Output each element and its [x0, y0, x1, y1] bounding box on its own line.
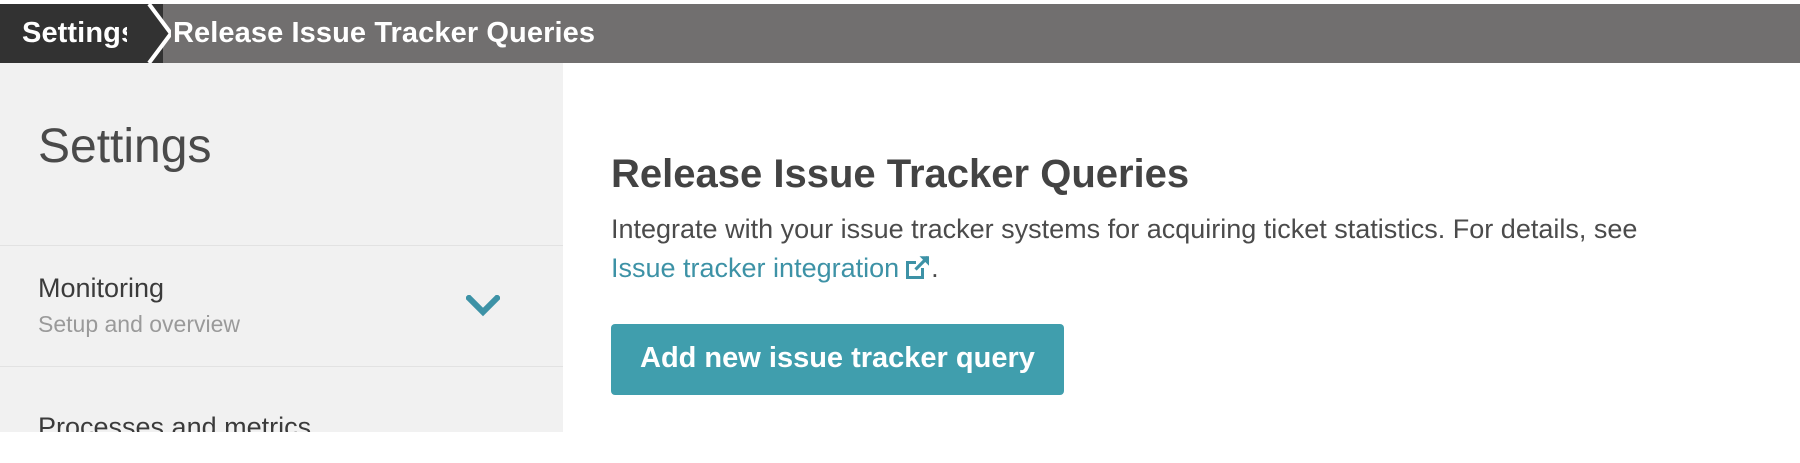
add-new-issue-tracker-query-button[interactable]: Add new issue tracker query — [611, 324, 1064, 395]
sidebar-item-sublabel: Setup and overview — [38, 310, 525, 340]
description-text-after: . — [931, 253, 939, 283]
chevron-right-icon — [127, 4, 171, 63]
settings-sidebar: Settings Monitoring Setup and overview P… — [0, 63, 563, 432]
content-card: Release Issue Tracker Queries Integrate … — [563, 110, 1800, 463]
sidebar-item-monitoring[interactable]: Monitoring Setup and overview — [0, 246, 563, 366]
sidebar-item-label: Processes and metrics — [38, 411, 525, 432]
sidebar-item-processes-and-metrics[interactable]: Processes and metrics — [0, 367, 563, 432]
content-title: Release Issue Tracker Queries — [611, 152, 1752, 196]
breadcrumb-current-label: Release Issue Tracker Queries — [173, 19, 595, 48]
sidebar-item-content: Monitoring Setup and overview — [38, 246, 525, 366]
breadcrumb-item-current: Release Issue Tracker Queries — [173, 4, 595, 63]
issue-tracker-integration-link[interactable]: Issue tracker integration — [611, 253, 931, 283]
sidebar-item-label: Monitoring — [38, 272, 525, 305]
breadcrumb: Settings Release Issue Tracker Queries — [0, 4, 1800, 63]
page-body: Settings Monitoring Setup and overview P… — [0, 63, 1800, 463]
breadcrumb-root-label: Settings — [22, 19, 137, 48]
settings-page: Settings Release Issue Tracker Queries S… — [0, 0, 1800, 463]
external-link-icon — [905, 254, 931, 280]
link-label: Issue tracker integration — [611, 253, 899, 283]
description-text-before: Integrate with your issue tracker system… — [611, 214, 1637, 244]
chevron-down-icon[interactable] — [465, 288, 501, 324]
sidebar-item-content: Processes and metrics — [38, 367, 525, 432]
page-title: Settings — [38, 123, 211, 171]
content-description: Integrate with your issue tracker system… — [611, 210, 1751, 288]
